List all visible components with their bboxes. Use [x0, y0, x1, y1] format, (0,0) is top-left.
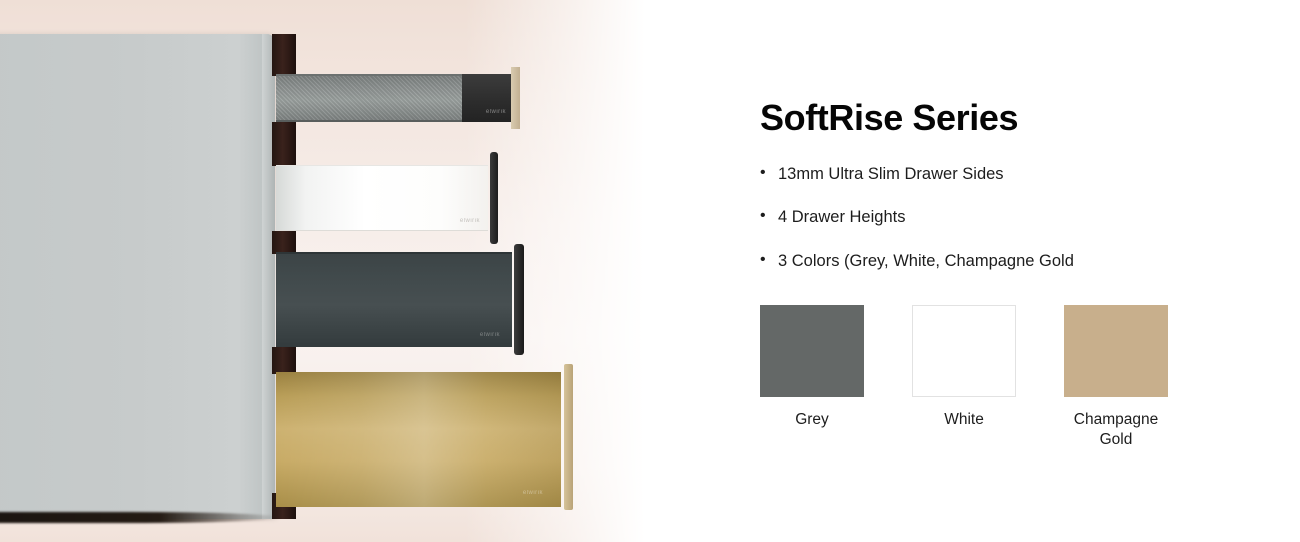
white-drawer-endcap [490, 152, 498, 244]
swatch-champagne-gold[interactable]: Champagne Gold [1064, 305, 1168, 450]
drawer-rail-4 [272, 347, 296, 374]
color-swatch-group: Grey White Champagne Gold [760, 305, 1300, 450]
brand-mark: elwirik [460, 218, 480, 224]
cabinet-body [0, 34, 275, 519]
swatch-grey[interactable]: Grey [760, 305, 864, 450]
drawer-rail-1 [272, 34, 296, 76]
grey-drawer-front-plate [511, 67, 520, 129]
list-item: 3 Colors (Grey, White, Champagne Gold [760, 251, 1300, 272]
swatch-white[interactable]: White [912, 305, 1016, 450]
white-drawer-face [276, 165, 488, 231]
list-item: 13mm Ultra Slim Drawer Sides [760, 164, 1300, 185]
dark-charcoal-drawer: elwirik [276, 252, 512, 347]
swatch-label: White [912, 410, 1016, 430]
swatch-chip-champagne-gold[interactable] [1064, 305, 1168, 397]
brand-mark: elwirik [523, 490, 543, 496]
cabinet-front-edge [262, 34, 275, 519]
page-title: SoftRise Series [760, 98, 1300, 138]
gold-drawer-face [276, 372, 561, 507]
grey-drawer-face [276, 74, 462, 122]
white-drawer: elwirik [276, 165, 488, 231]
product-info-panel: SoftRise Series 13mm Ultra Slim Drawer S… [645, 0, 1300, 542]
swatch-chip-grey[interactable] [760, 305, 864, 397]
dark-drawer-face [276, 252, 512, 347]
product-showcase-page: elwirik elwirik elwirik elwirik SoftRise… [0, 0, 1300, 542]
drawer-rail-2 [272, 122, 296, 166]
gold-drawer-sheen [276, 372, 561, 507]
brand-mark: elwirik [486, 109, 506, 115]
swatch-label: Champagne Gold [1064, 410, 1168, 450]
brand-mark: elwirik [480, 332, 500, 338]
list-item: 4 Drawer Heights [760, 207, 1300, 228]
drawer-rail-3 [272, 231, 296, 254]
swatch-chip-white[interactable] [912, 305, 1016, 397]
swatch-label: Grey [760, 410, 864, 430]
feature-list: 13mm Ultra Slim Drawer Sides 4 Drawer He… [760, 164, 1300, 272]
dark-drawer-endcap [514, 244, 524, 355]
champagne-gold-drawer: elwirik [276, 372, 561, 507]
gold-drawer-endcap [564, 364, 573, 510]
product-photo-panel: elwirik elwirik elwirik elwirik [0, 0, 645, 542]
cabinet-base-shadow [0, 512, 280, 523]
grey-mesh-drawer: elwirik [276, 74, 462, 122]
